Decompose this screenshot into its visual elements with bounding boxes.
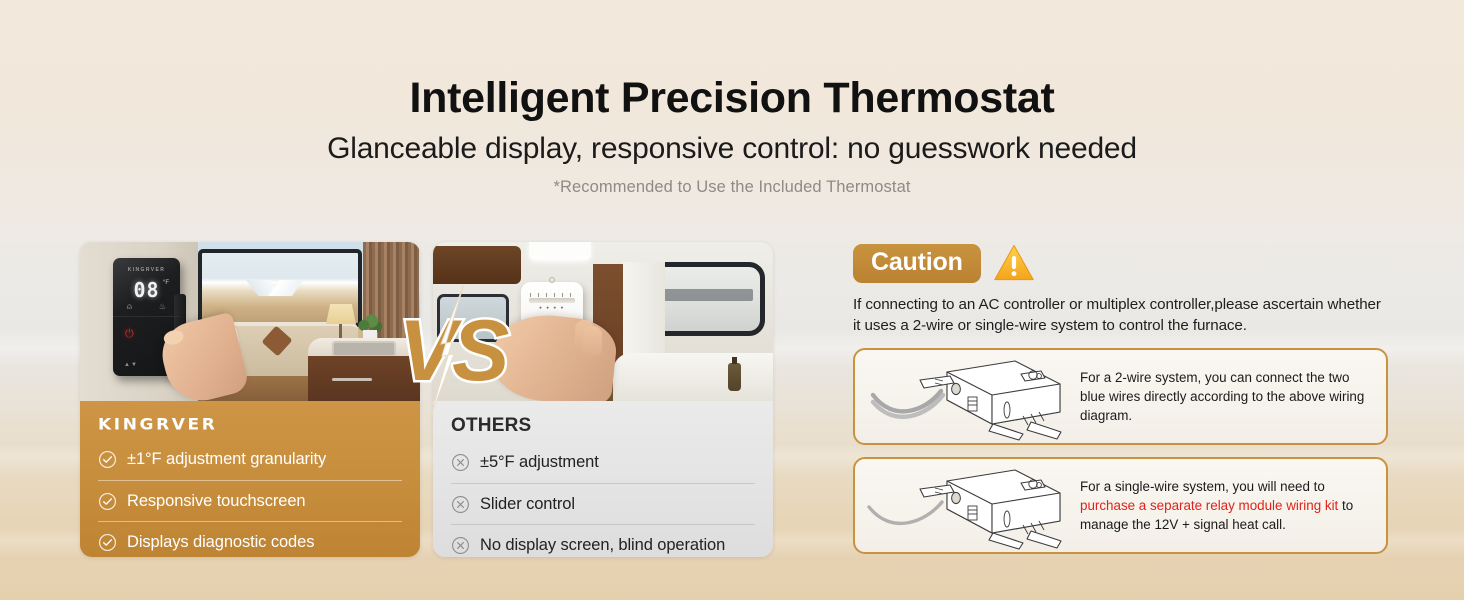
list-item: Displays diagnostic codes: [98, 521, 402, 557]
comparison-section: KINGRVER 08 °F ⍝ ♨ ⏻ ▲▼ KINGRVER: [80, 242, 780, 557]
list-item: Slider control: [451, 483, 755, 524]
caution-body-text: If connecting to an AC controller or mul…: [853, 295, 1388, 336]
fan-icon: ⍝: [127, 302, 132, 312]
kingrver-logo: KINGRVER: [98, 416, 402, 434]
cross-circle-icon: [451, 536, 470, 555]
relay-kit-highlight: purchase a separate relay module wiring …: [1080, 498, 1338, 513]
single-wire-card-text: For a single-wire system, you will need …: [1080, 477, 1386, 534]
list-item-label: ±5°F adjustment: [480, 453, 599, 472]
recommendation-note: *Recommended to Use the Included Thermos…: [0, 178, 1464, 197]
single-wire-control-box-diagram: [855, 459, 1080, 552]
list-item: ±5°F adjustment: [451, 442, 755, 483]
kingrver-feature-list: KINGRVER ±1°F adjustment granularity Res…: [80, 401, 420, 557]
slider-scale-top: ● ● ● ●: [521, 305, 583, 310]
page-subtitle: Glanceable display, responsive control: …: [0, 132, 1464, 166]
power-icon: ⏻: [125, 328, 134, 341]
two-wire-card-text: For a 2-wire system, you can connect the…: [1080, 368, 1386, 425]
check-circle-icon: [98, 533, 117, 552]
list-item: ±1°F adjustment granularity: [98, 439, 402, 480]
device-brand-label: KINGRVER: [113, 267, 180, 273]
list-item-label: Responsive touchscreen: [127, 492, 306, 511]
list-item: Responsive touchscreen: [98, 480, 402, 521]
wiring-card-two-wire: For a 2-wire system, you can connect the…: [853, 348, 1388, 445]
wiring-card-single-wire: For a single-wire system, you will need …: [853, 457, 1388, 554]
mode-label: ▲▼: [124, 362, 138, 368]
list-item-label: ±1°F adjustment granularity: [127, 450, 326, 469]
kingrver-card: KINGRVER 08 °F ⍝ ♨ ⏻ ▲▼ KINGRVER: [80, 242, 420, 557]
cross-circle-icon: [451, 453, 470, 472]
single-wire-text-before: For a single-wire system, you will need …: [1080, 479, 1325, 494]
infographic-root: Intelligent Precision Thermostat Glancea…: [0, 0, 1464, 600]
check-circle-icon: [98, 492, 117, 511]
others-feature-list: OTHERS ±5°F adjustment Slider control: [433, 401, 773, 557]
header: Intelligent Precision Thermostat Glancea…: [0, 0, 1464, 197]
warning-triangle-icon: [993, 243, 1035, 283]
list-item-label: Displays diagnostic codes: [127, 533, 314, 552]
page-title: Intelligent Precision Thermostat: [0, 76, 1464, 121]
others-card: ● ● ● ● ● ● ● ● OTHERS: [433, 242, 773, 557]
device-temperature-readout: 08: [113, 278, 180, 302]
caution-badge: Caution: [853, 244, 981, 283]
two-wire-control-box-diagram: [855, 350, 1080, 443]
caution-section: Caution If connecting to an AC controlle…: [853, 243, 1388, 554]
list-item: No display screen, blind operation: [451, 524, 755, 557]
others-heading: OTHERS: [451, 415, 755, 437]
cross-circle-icon: [451, 495, 470, 514]
list-item-label: Slider control: [480, 495, 575, 514]
two-wire-text: For a 2-wire system, you can connect the…: [1080, 370, 1364, 423]
caution-header: Caution: [853, 243, 1388, 283]
others-product-photo: ● ● ● ● ● ● ● ●: [433, 242, 773, 401]
flame-icon: ♨: [159, 302, 166, 311]
list-item-label: No display screen, blind operation: [480, 536, 725, 555]
kingrver-product-photo: KINGRVER 08 °F ⍝ ♨ ⏻ ▲▼: [80, 242, 420, 401]
device-unit-label: °F: [163, 280, 169, 286]
check-circle-icon: [98, 450, 117, 469]
